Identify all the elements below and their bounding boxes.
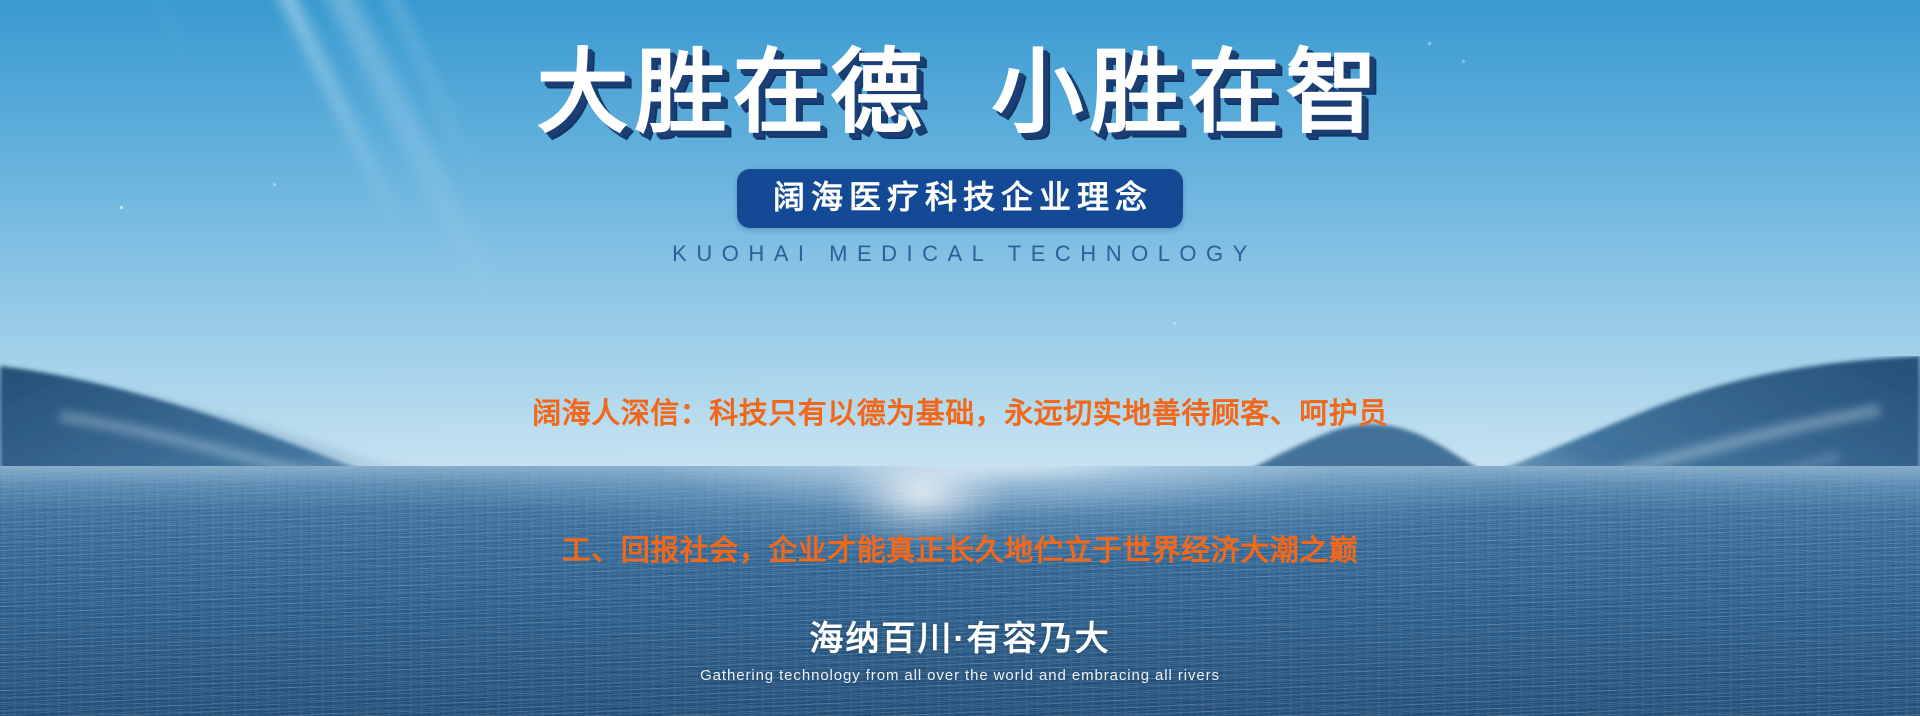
- concept-badge-label: 阔海医疗科技企业理念: [767, 180, 1153, 215]
- company-statement-line-2: 工、回报社会，企业才能真正长久地伫立于世界经济大潮之巅: [532, 529, 1388, 575]
- banner-footer: 海纳百川·有容乃大 Gathering technology from all …: [0, 621, 1920, 684]
- footer-motto-english: Gathering technology from all over the w…: [0, 667, 1920, 684]
- headline-slogan: 大胜在德 小胜在智: [536, 47, 1383, 139]
- promotional-banner: 大胜在德 小胜在智 阔海医疗科技企业理念 KUOHAI MEDICAL TECH…: [0, 0, 1920, 716]
- concept-badge: 阔海医疗科技企业理念: [737, 169, 1183, 228]
- company-statement: 阔海人深信：科技只有以德为基础，永远切实地善待顾客、呵护员 工、回报社会，企业才…: [532, 300, 1388, 667]
- company-statement-line-1: 阔海人深信：科技只有以德为基础，永远切实地善待顾客、呵护员: [532, 392, 1388, 438]
- banner-content: 大胜在德 小胜在智 阔海医疗科技企业理念 KUOHAI MEDICAL TECH…: [0, 0, 1920, 716]
- english-company-name: KUOHAI MEDICAL TECHNOLOGY: [663, 241, 1257, 267]
- footer-motto-chinese: 海纳百川·有容乃大: [0, 621, 1920, 658]
